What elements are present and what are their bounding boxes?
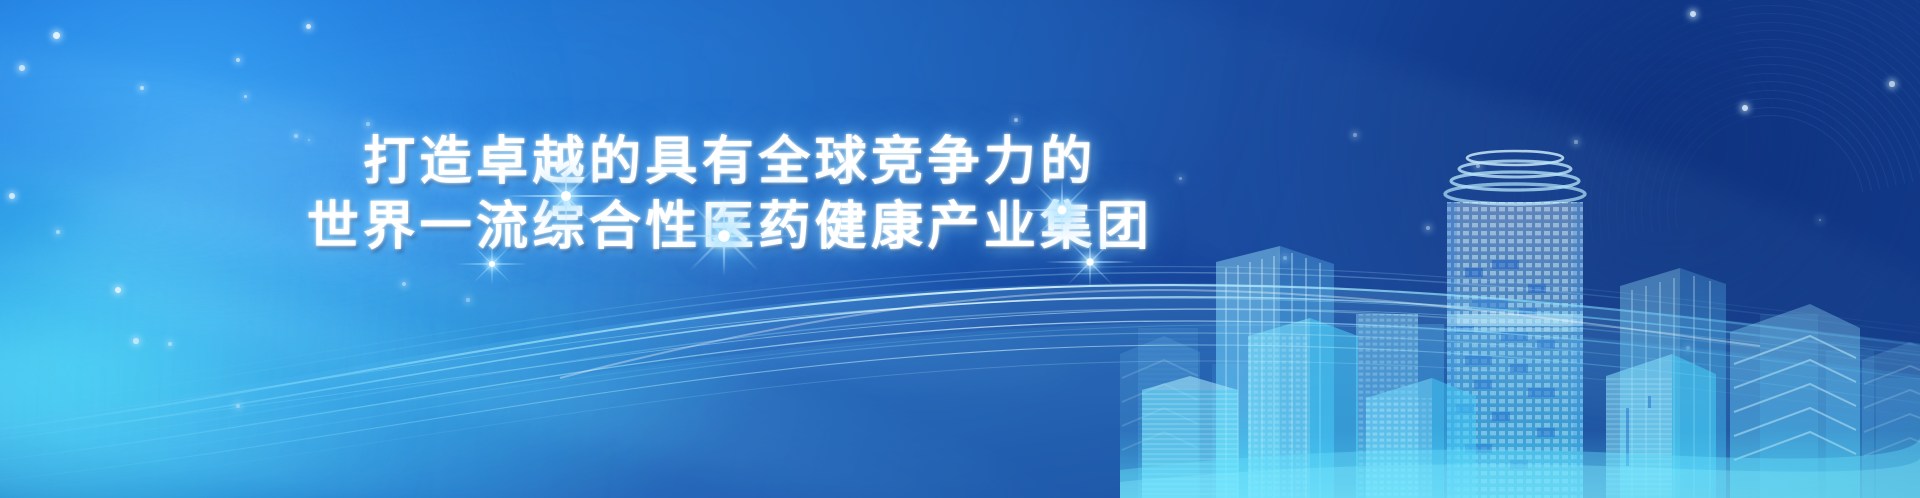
particle-dot [140, 86, 144, 90]
tower-crown [1445, 151, 1585, 204]
hero-banner: 打造卓越的具有全球竞争力的 世界一流综合性医药健康产业集团 [0, 0, 1920, 498]
particle-dot [306, 24, 311, 29]
particle-dot [236, 58, 240, 62]
particle-dot [1014, 118, 1018, 122]
particle-dot [244, 95, 247, 98]
particle-dot [19, 65, 25, 71]
particle-dot [366, 122, 370, 126]
particle-dot [53, 32, 60, 39]
particle-dot [1690, 11, 1696, 17]
headline-line-2: 世界一流综合性医药健康产业集团 [0, 196, 1460, 260]
headline-line-1: 打造卓越的具有全球竞争力的 [0, 132, 1460, 194]
headline-block: 打造卓越的具有全球竞争力的 世界一流综合性医药健康产业集团 [0, 132, 1460, 260]
